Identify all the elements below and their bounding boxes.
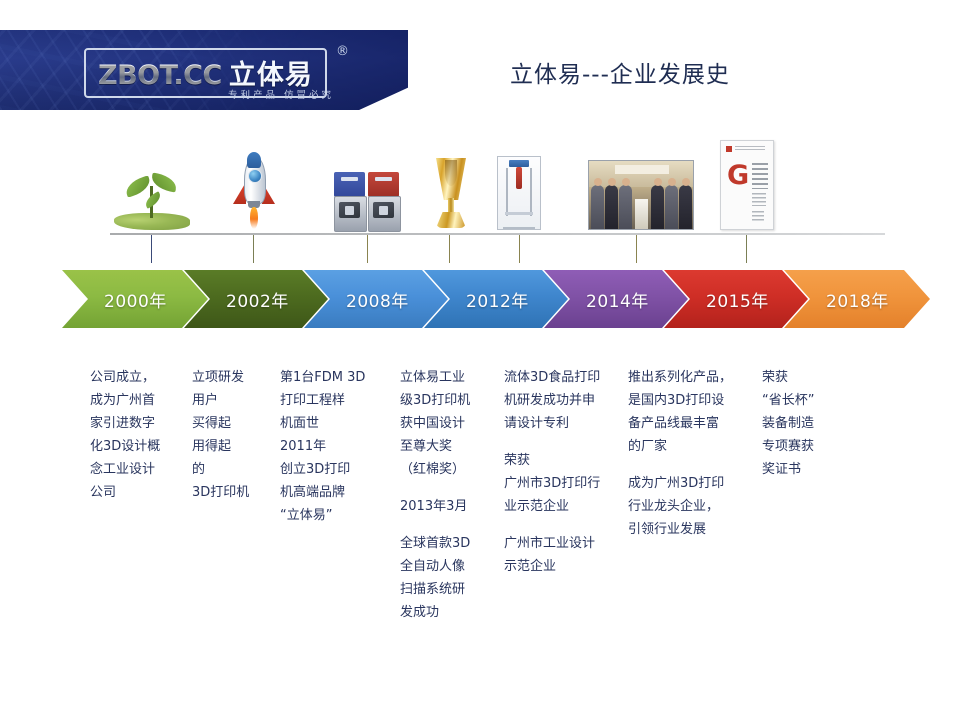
group-photo-icon [588,160,694,230]
milestone-paragraph: 荣获 广州市3D打印行 业示范企业 [504,449,626,518]
milestone-media-2015 [586,158,696,230]
milestone-paragraph: 成为广州3D打印 行业龙头企业， 引领行业发展 [628,472,756,541]
brand-banner: ZBOT.CC 立体易 ® 专利产品 仿冒必究 [0,30,408,110]
milestone-text-2018: 荣获 “省长杯” 装备制造 专项赛获 奖证书 [762,366,862,481]
milestone-media-2018: G [718,138,776,230]
milestone-text-2014: 流体3D食品打印 机研发成功并申 请设计专利 荣获 广州市3D打印行 业示范企业… [504,366,626,578]
milestone-paragraph: 荣获 “省长杯” 装备制造 专项赛获 奖证书 [762,366,862,481]
timeline-tick-2002 [253,235,254,263]
milestone-paragraph: 流体3D食品打印 机研发成功并申 请设计专利 [504,366,626,435]
trophy-icon [431,158,471,230]
milestone-paragraph: 推出系列化产品， 是国内3D打印设 备产品线最丰富 的厂家 [628,366,756,458]
chevron-label-2002: 2002年 [226,287,289,312]
printer-pair-icon [334,168,402,230]
chevron-label-2014: 2014年 [586,287,649,312]
milestone-media-2000 [112,160,192,230]
milestone-paragraph: 第1台FDM 3D 打印工程样 机面世 2011年 创立3D打印 机高端品牌 “… [280,366,398,527]
timeline-axis [110,233,885,235]
milestone-paragraph: 2013年3月 [400,495,500,518]
milestone-text-2000: 公司成立， 成为广州首 家引进数字 化3D设计概 念工业设计 公司 [90,366,190,504]
milestone-text-2012: 立体易工业 级3D打印机 获中国设计 至尊大奖 （红棉奖） 2013年3月 全球… [400,366,500,624]
milestone-paragraph: 公司成立， 成为广州首 家引进数字 化3D设计概 念工业设计 公司 [90,366,190,504]
food-printer-icon [497,156,541,230]
milestone-paragraph: 立体易工业 级3D打印机 获中国设计 至尊大奖 （红棉奖） [400,366,500,481]
timeline-tick-2012 [449,235,450,263]
milestone-text-2002: 立项研发 用户 买得起 用得起 的 3D打印机 [192,366,276,504]
certificate-icon: G [720,140,774,230]
milestone-text-2008: 第1台FDM 3D 打印工程样 机面世 2011年 创立3D打印 机高端品牌 “… [280,366,398,527]
timeline-tick-2008 [367,235,368,263]
chevron-label-2008: 2008年 [346,287,409,312]
timeline-tick-2015 [636,235,637,263]
chevron-label-2018: 2018年 [826,287,889,312]
page-title: 立体易---企业发展史 [510,55,730,89]
milestone-media-2008 [331,164,405,230]
logo-latin-text: ZBOT.CC [98,60,222,91]
chevron-label-2015: 2015年 [706,287,769,312]
milestone-media-row: G [0,130,960,230]
milestone-text-columns: 公司成立， 成为广州首 家引进数字 化3D设计概 念工业设计 公司 立项研发 用… [0,366,960,666]
logo-tagline: 专利产品 仿冒必究 [228,87,334,101]
chevron-label-2000: 2000年 [104,287,167,312]
registered-trademark-icon: ® [336,44,349,59]
milestone-paragraph: 立项研发 用户 买得起 用得起 的 3D打印机 [192,366,276,504]
milestone-media-2012 [428,152,474,230]
milestone-media-2014 [494,150,544,230]
seedling-icon [114,168,190,230]
milestone-media-2002 [224,148,284,230]
timeline-chevrons: 2000年 2002年 2008年 2012年 2014年 2015年 2018… [0,270,960,328]
chevron-label-2012: 2012年 [466,287,529,312]
milestone-paragraph: 全球首款3D 全自动人像 扫描系统研 发成功 [400,532,500,624]
milestone-paragraph: 广州市工业设计 示范企业 [504,532,626,578]
timeline-tick-2014 [519,235,520,263]
rocket-icon [230,154,278,230]
timeline-tick-2000 [151,235,152,263]
timeline-chevron-2000[interactable]: 2000年 [62,270,208,328]
milestone-text-2015: 推出系列化产品， 是国内3D打印设 备产品线最丰富 的厂家 成为广州3D打印 行… [628,366,756,541]
timeline-tick-2018 [746,235,747,263]
